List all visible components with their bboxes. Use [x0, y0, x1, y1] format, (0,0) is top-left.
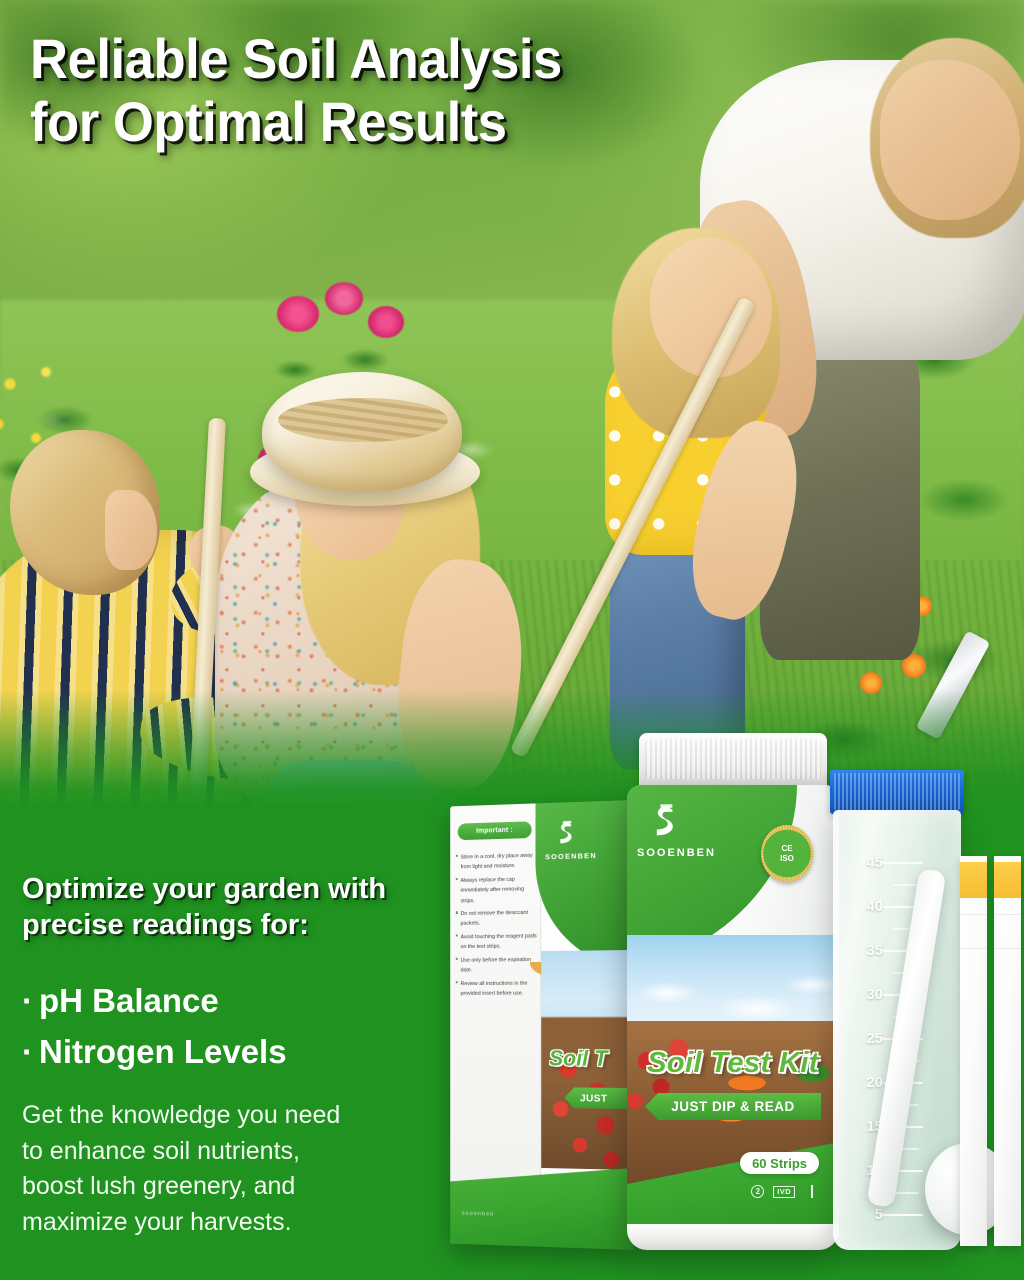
- bottle-label: SOOENBEN CE ISO Soil Test Kit JUST DIP &…: [627, 785, 839, 1250]
- rose-bloom: [325, 282, 363, 315]
- product-carton: Important : Store in a cool, dry place a…: [450, 800, 633, 1250]
- graduation-label: 45: [853, 855, 883, 870]
- carton-product-title: Soil T: [549, 1046, 633, 1072]
- important-item: Store in a cool, dry place away from lig…: [456, 851, 538, 873]
- strip-seam: [994, 948, 1021, 949]
- graduation-label: 20: [853, 1075, 883, 1090]
- regulatory-symbols-row: 2 IVD: [751, 1185, 817, 1198]
- carton-dip-banner: JUST: [564, 1087, 633, 1109]
- sooenben-logo-icon: [555, 820, 576, 846]
- graduation-mark: [893, 1192, 919, 1194]
- carton-green-arc: [535, 800, 633, 971]
- bullet-ph-balance: pH Balance: [22, 975, 452, 1026]
- bottle-dip-read-banner: JUST DIP & READ: [645, 1093, 821, 1120]
- ce-iso-certification-badge: CE ISO: [761, 825, 813, 882]
- feature-bullet-list: pH Balance Nitrogen Levels: [22, 975, 452, 1077]
- graduation-label: 25: [853, 1031, 883, 1046]
- graduation-label: 30: [853, 987, 883, 1002]
- product-bottle: SOOENBEN CE ISO Soil Test Kit JUST DIP &…: [627, 733, 839, 1250]
- bottle-cap: [639, 733, 827, 789]
- body-copy: Get the knowledge you need to enhance so…: [22, 1098, 452, 1240]
- subhead-line-1: Optimize your garden with: [22, 873, 386, 905]
- cylinder-blue-cap: [830, 770, 964, 814]
- reagent-pad: [994, 862, 1021, 898]
- important-item: Always replace the cap immediately after…: [456, 874, 538, 906]
- bottle-product-title: Soil Test Kit: [635, 1047, 831, 1080]
- subheadline: Optimize your garden with precise readin…: [22, 872, 442, 944]
- graduation-mark: [879, 862, 923, 864]
- strip-seam: [994, 914, 1021, 915]
- boy-face: [105, 490, 157, 570]
- headline-line-1: Reliable Soil Analysis: [30, 28, 688, 91]
- test-strip: [960, 856, 987, 1246]
- badge-iso-label: ISO: [780, 854, 794, 864]
- important-item: Do not remove the desiccant packets.: [456, 908, 538, 930]
- bottle-brand-name: SOOENBEN: [637, 847, 757, 859]
- headline-line-2: for Optimal Results: [30, 91, 688, 154]
- do-not-reuse-icon: 2: [751, 1185, 764, 1198]
- body-line-3: boost lush greenery, and: [22, 1169, 452, 1205]
- body-line-4: maximize your harvests.: [22, 1205, 452, 1241]
- graduation-label: 5: [853, 1207, 883, 1222]
- lot-number-icon: [804, 1185, 817, 1198]
- man-face: [880, 60, 1020, 220]
- ivd-icon: IVD: [773, 1186, 795, 1198]
- subhead-line-2: precise readings for:: [22, 909, 309, 941]
- body-line-1: Get the knowledge you need: [22, 1098, 452, 1134]
- graduation-label: 35: [853, 943, 883, 958]
- strip-seam: [960, 948, 987, 949]
- page-title: Reliable Soil Analysis for Optimal Resul…: [30, 28, 688, 153]
- strip-seam: [960, 914, 987, 915]
- sooenben-logo-icon: [649, 803, 679, 839]
- important-instructions-list: Store in a cool, dry place away from lig…: [456, 851, 538, 1003]
- bottle-base: [627, 1224, 839, 1250]
- graduation-mark: [879, 1214, 923, 1216]
- straw-hat-band: [278, 398, 448, 442]
- test-strip: [994, 856, 1021, 1246]
- strips-count-badge: 60 Strips: [740, 1152, 819, 1174]
- product-marketing-poster: Reliable Soil Analysis for Optimal Resul…: [0, 0, 1024, 1280]
- graduation-label: 40: [853, 899, 883, 914]
- important-item: Review all instructions in the provided …: [456, 978, 538, 999]
- body-line-2: to enhance soil nutrients,: [22, 1134, 452, 1170]
- reagent-pad: [960, 862, 987, 898]
- graduation-mark: [893, 884, 919, 886]
- badge-ce-label: CE: [781, 844, 792, 854]
- important-item: Avoid touching the reagent pads on the t…: [456, 931, 538, 952]
- important-item: Use only before the expiration date.: [456, 955, 538, 976]
- important-heading: Important :: [458, 821, 532, 840]
- bullet-nitrogen-levels: Nitrogen Levels: [22, 1026, 452, 1077]
- carton-front-face: Important : Store in a cool, dry place a…: [450, 800, 633, 1250]
